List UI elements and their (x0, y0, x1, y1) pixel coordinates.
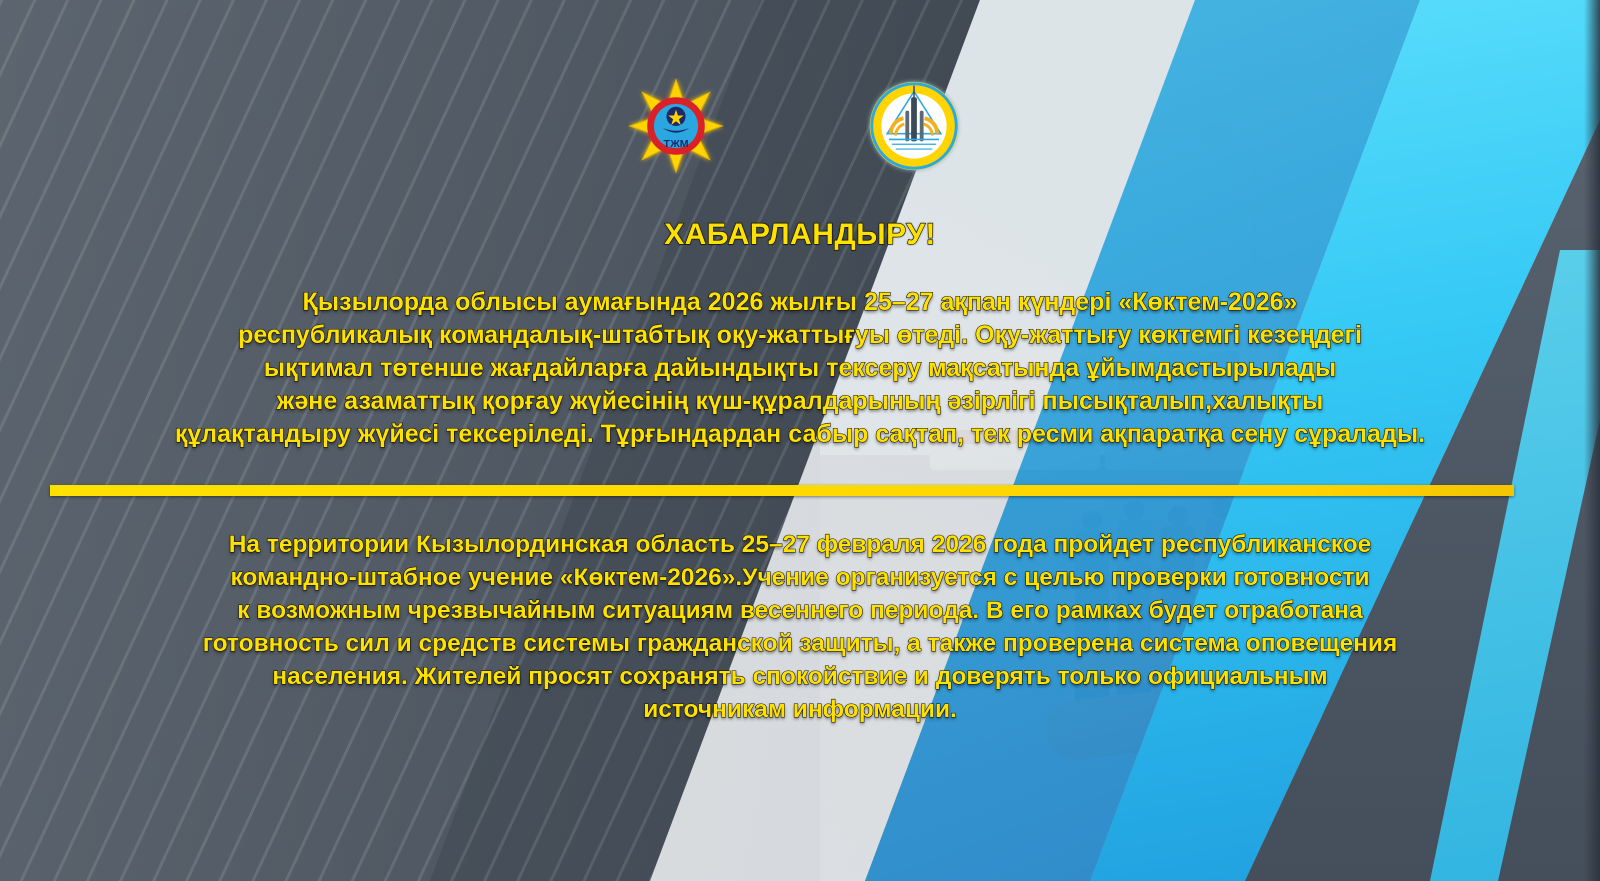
yellow-divider (50, 485, 1514, 496)
kazakh-line: және азаматтық қорғау жүйесінің күш-құра… (0, 385, 1600, 418)
russian-line: готовность сил и средств системы граждан… (0, 627, 1600, 660)
kyzylorda-region-emblem (866, 78, 962, 174)
kazakh-line: республикалық командалық-штабтық оқу-жат… (0, 319, 1600, 352)
kazakh-announcement-text: Қызылорда облысы аумағында 2026 жылғы 25… (0, 286, 1600, 451)
russian-line: На территории Кызылординская область 25–… (0, 528, 1600, 561)
russian-announcement-text: На территории Кызылординская область 25–… (0, 528, 1600, 726)
mes-kazakhstan-emblem: ТЖМ (628, 78, 724, 174)
russian-line: источникам информации. (0, 693, 1600, 726)
headline-title: ХАБАРЛАНДЫРУ! (0, 218, 1600, 252)
kazakh-line: құлақтандыру жүйесі тексеріледі. Тұрғынд… (0, 418, 1600, 451)
svg-text:ТЖМ: ТЖМ (663, 138, 688, 150)
russian-line: командно-штабное учение «Көктем-2026».Уч… (0, 561, 1600, 594)
emblem-row: ТЖМ (0, 78, 1600, 193)
russian-line: к возможным чрезвычайным ситуациям весен… (0, 594, 1600, 627)
kazakh-line: ықтимал төтенше жағдайларға дайындықты т… (0, 352, 1600, 385)
announcement-poster: ТЖМ (0, 0, 1600, 881)
russian-line: населения. Жителей просят сохранять спок… (0, 660, 1600, 693)
kazakh-line: Қызылорда облысы аумағында 2026 жылғы 25… (0, 286, 1600, 319)
